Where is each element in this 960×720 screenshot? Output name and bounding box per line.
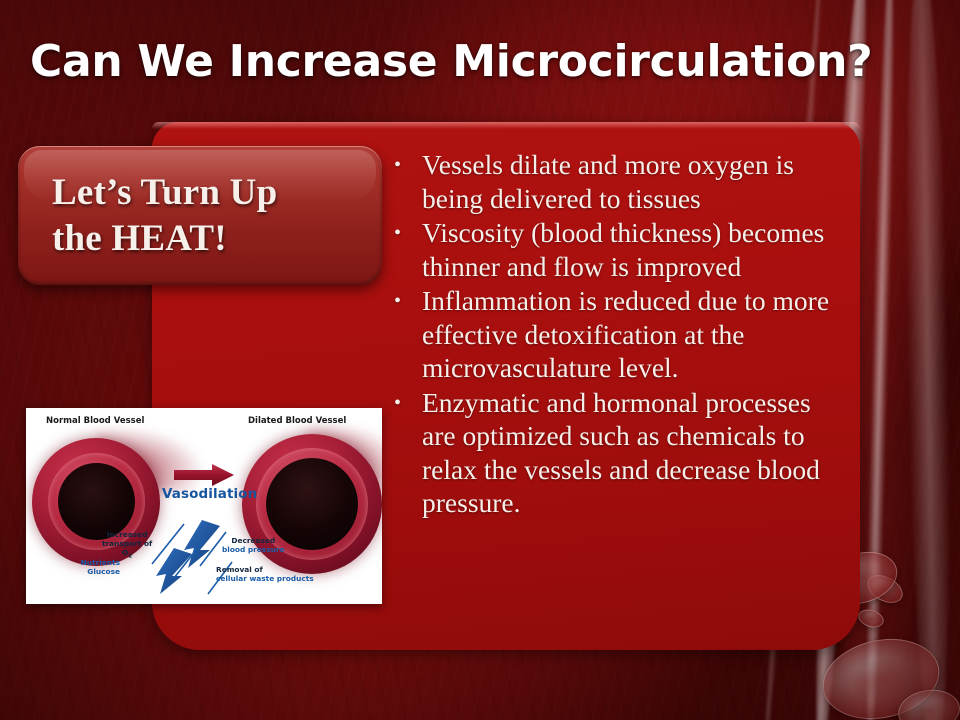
note-decreased: Decreased	[222, 536, 285, 545]
list-item: • Inflammation is reduced due to more ef…	[394, 284, 850, 385]
vasodilation-diagram-image: Vasodilation Normal Blood Vessel Dilated…	[26, 408, 382, 604]
slide-title: Can We Increase Microcirculation?	[30, 36, 910, 88]
note-removal-waste: Removal of cellular waste products	[216, 565, 314, 583]
note-removal: Removal of	[216, 565, 314, 574]
bullet-text: Vessels dilate and more oxygen is being …	[422, 148, 850, 215]
bullet-dot-icon: •	[394, 386, 422, 420]
dilated-vessel-label: Dilated Blood Vessel	[248, 416, 346, 426]
bullet-text: Enzymatic and hormonal processes are opt…	[422, 386, 850, 520]
list-item: • Vessels dilate and more oxygen is bein…	[394, 148, 850, 215]
vasodilation-arrow-icon	[174, 464, 234, 486]
slide: Can We Increase Microcirculation? Let’s …	[0, 0, 960, 720]
flow-arrows-group-icon	[144, 520, 240, 598]
bullet-text: Viscosity (blood thickness) becomes thin…	[422, 216, 850, 283]
normal-vessel-lumen	[58, 463, 135, 540]
note-nutrients-glucose: Nutrients Glucose	[32, 558, 120, 576]
vasodilation-label: Vasodilation	[162, 486, 257, 502]
bullet-dot-icon: •	[394, 284, 422, 318]
list-item: • Enzymatic and hormonal processes are o…	[394, 386, 850, 520]
callout-heat-button[interactable]: Let’s Turn Up the HEAT!	[18, 146, 382, 285]
bullet-dot-icon: •	[394, 148, 422, 182]
note-decreased-blood-pressure: Decreased blood pressure	[222, 536, 285, 554]
note-glucose: Glucose	[32, 567, 120, 576]
callout-line-1: Let’s Turn Up	[52, 170, 277, 216]
bullet-text: Inflammation is reduced due to more effe…	[422, 284, 850, 385]
bullet-dot-icon: •	[394, 216, 422, 250]
note-increased-line2: transport of	[102, 539, 152, 548]
normal-vessel-label: Normal Blood Vessel	[46, 416, 144, 426]
note-blood-pressure: blood pressure	[222, 545, 285, 554]
oxygen-subscript: 2	[128, 554, 132, 560]
bullet-list: • Vessels dilate and more oxygen is bein…	[394, 148, 850, 521]
panel-top-highlight	[152, 122, 860, 129]
callout-text: Let’s Turn Up the HEAT!	[18, 170, 311, 262]
callout-line-2: the HEAT!	[52, 216, 277, 262]
note-nutrients: Nutrients	[32, 558, 120, 567]
note-increased-line1: Increased	[102, 530, 152, 539]
list-item: • Viscosity (blood thickness) becomes th…	[394, 216, 850, 283]
note-waste-products: cellular waste products	[216, 574, 314, 583]
